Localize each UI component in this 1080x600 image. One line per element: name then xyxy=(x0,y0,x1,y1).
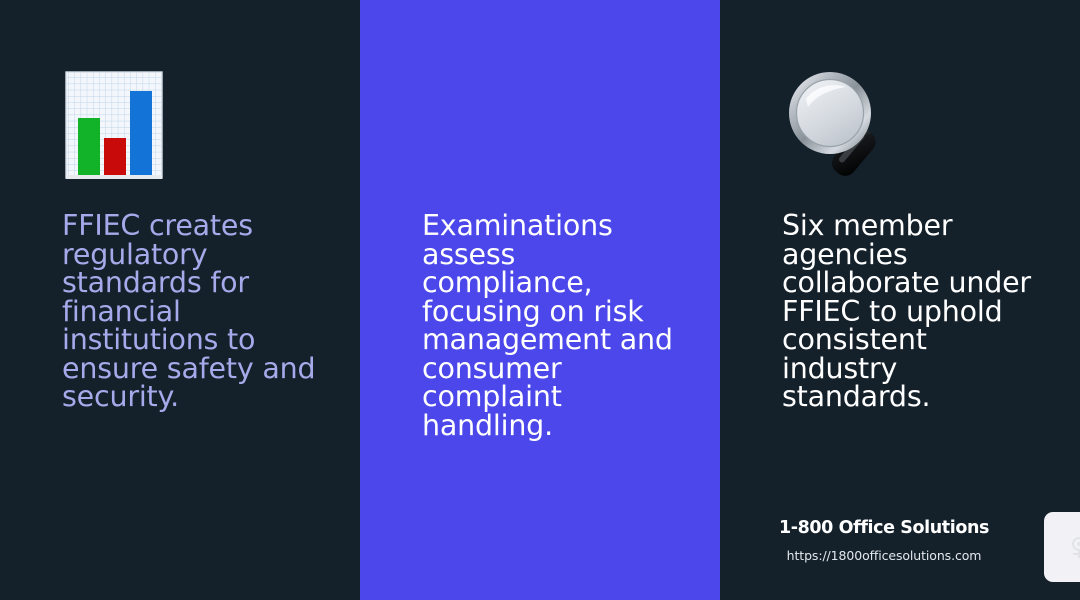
panel-ffiec-standards: FFIEC creates regulatory standards for f… xyxy=(0,0,360,600)
magnifying-glass-emoji xyxy=(782,62,922,188)
panel-member-agencies: Six member agencies collaborate under FF… xyxy=(720,0,1080,600)
panel-examinations-compliance: Examinations assess compliance, focusing… xyxy=(360,0,720,600)
company-logo-watermark xyxy=(1044,512,1080,582)
company-url[interactable]: https://1800officesolutions.com xyxy=(778,548,990,563)
branding-block: 1-800 Office Solutions https://1800offic… xyxy=(778,508,1078,588)
panel-3-body-text: Six member agencies collaborate under FF… xyxy=(782,212,1050,412)
company-name: 1-800 Office Solutions xyxy=(778,518,990,538)
infographic-canvas: FFIEC creates regulatory standards for f… xyxy=(0,0,1080,600)
panel-2-body-text: Examinations assess compliance, focusing… xyxy=(422,212,674,440)
panel-1-body-text: FFIEC creates regulatory standards for f… xyxy=(62,212,330,412)
bar-chart-emoji xyxy=(62,62,202,188)
